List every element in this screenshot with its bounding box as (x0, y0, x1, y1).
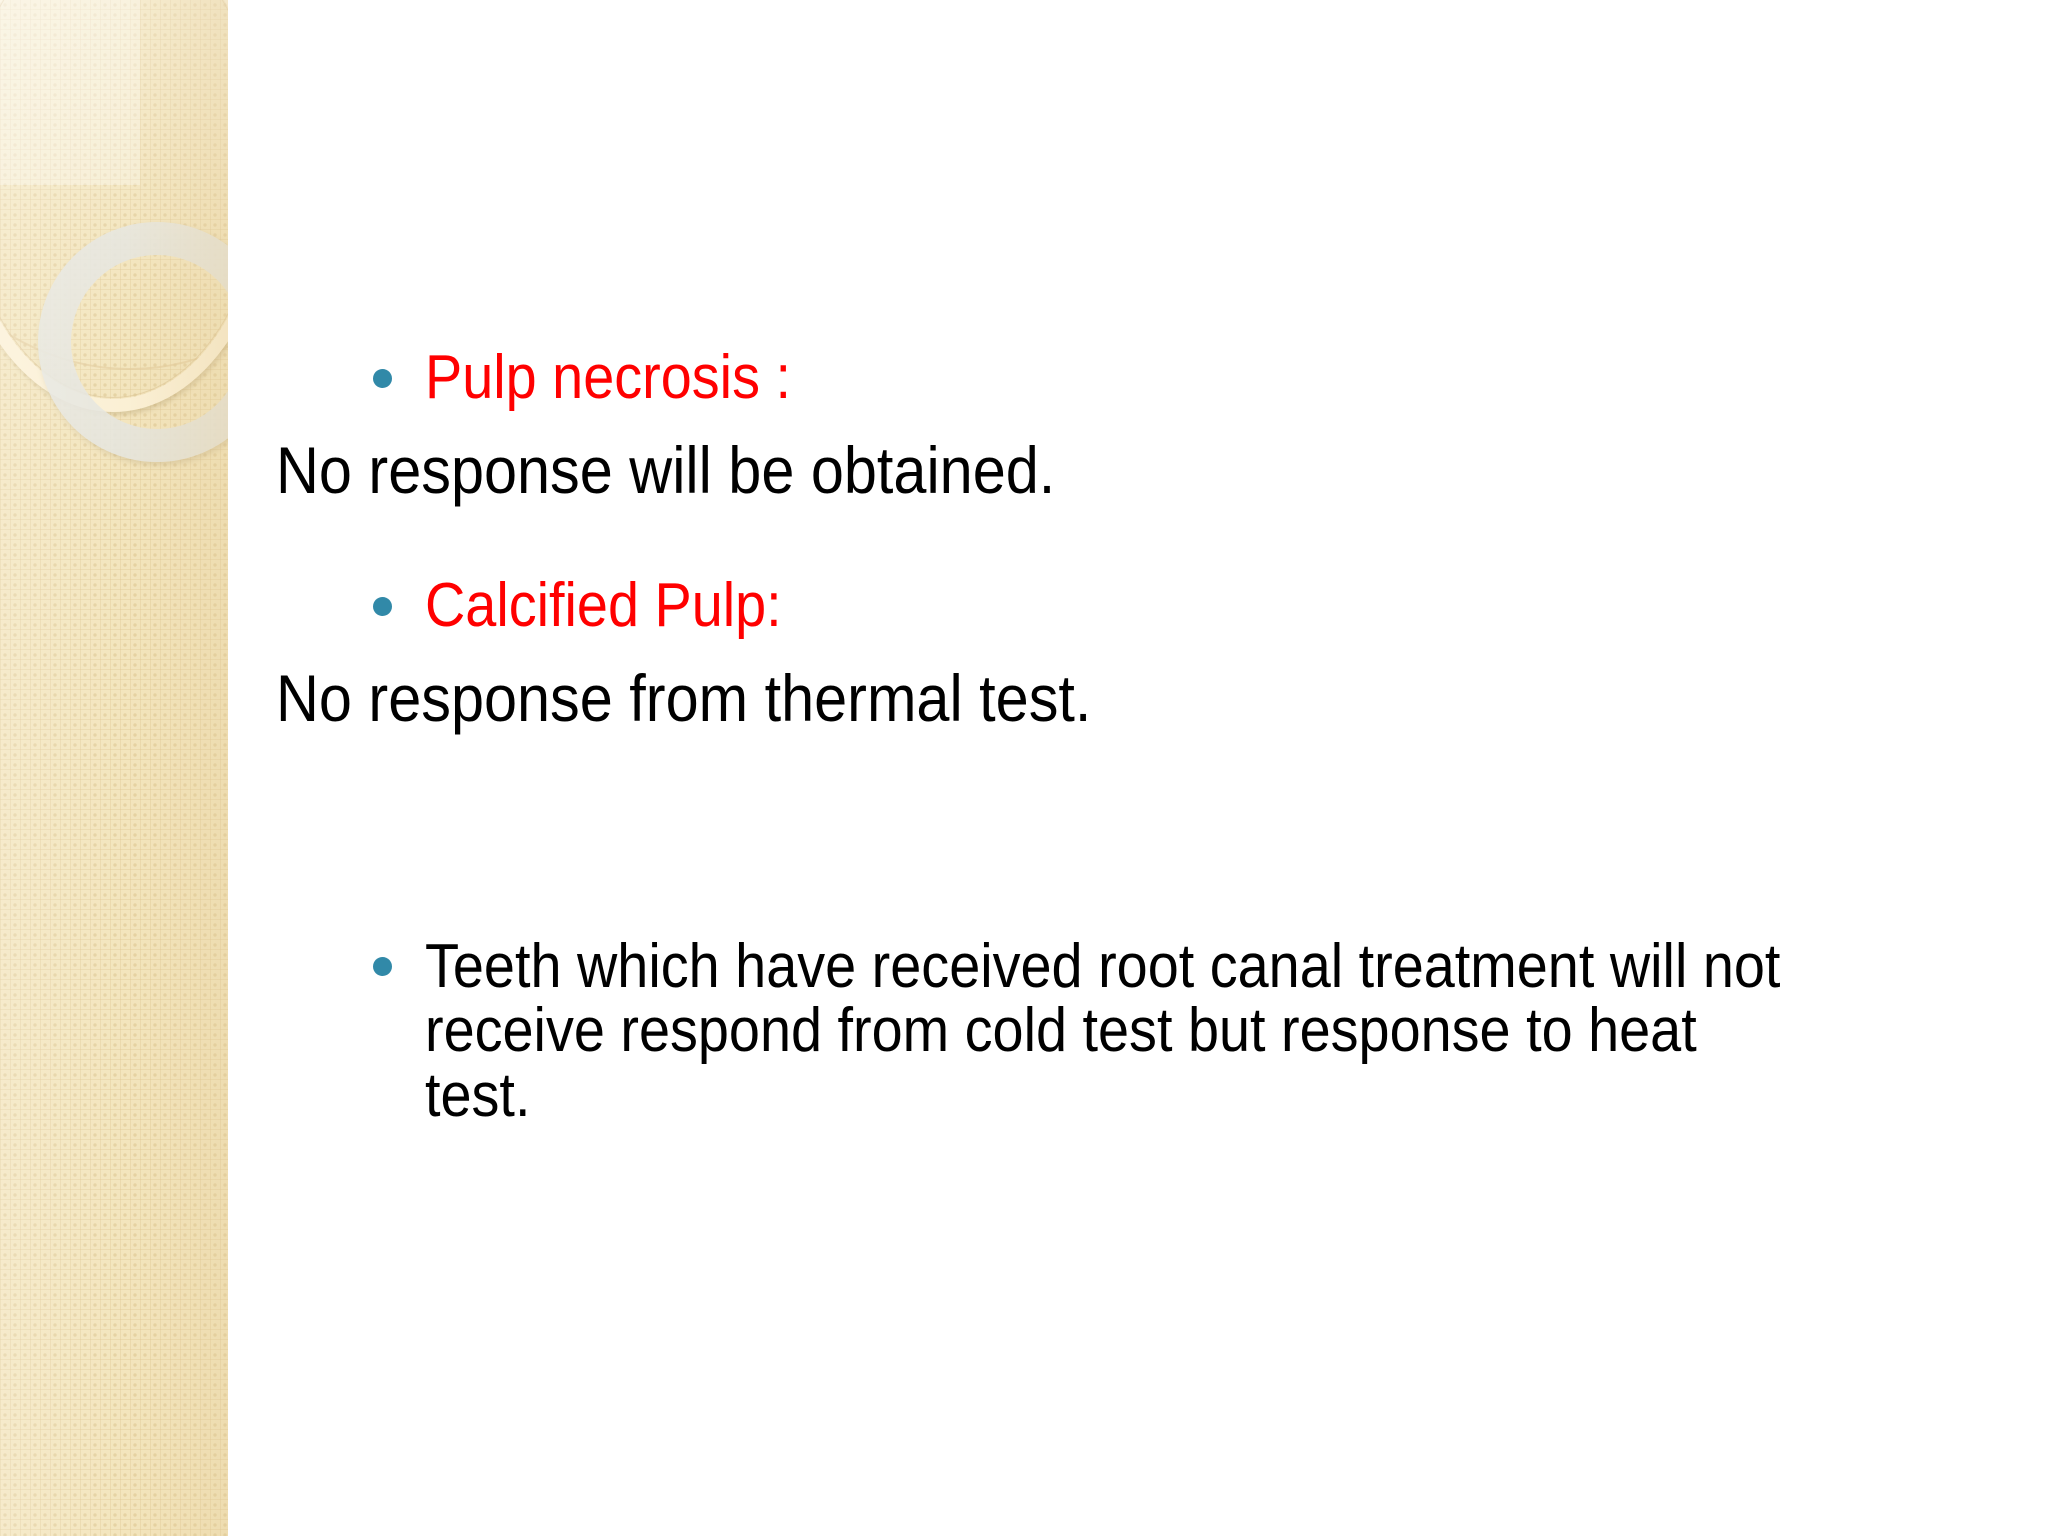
bullet-dot-icon (373, 597, 392, 616)
bullet-label-calcified-pulp: Calcified Pulp: (425, 575, 782, 637)
slide-content-area: Pulp necrosis : No response will be obta… (228, 0, 2048, 1536)
text-line-no-response-thermal: No response from thermal test. (276, 660, 1091, 736)
decorative-sidebar (0, 0, 228, 1536)
bullet-label-pulp-necrosis: Pulp necrosis : (425, 347, 791, 409)
bullet-item-calcified-pulp: Calcified Pulp: (373, 575, 821, 637)
bullet-item-teeth-root-canal: Teeth which have received root canal tre… (373, 935, 1965, 1128)
text-line-no-response-obtained: No response will be obtained. (276, 432, 1055, 508)
bullet-item-pulp-necrosis: Pulp necrosis : (373, 347, 832, 409)
sidebar-gradient-wash (0, 0, 228, 1536)
bullet-dot-icon (373, 957, 392, 976)
bullet-dot-icon (373, 369, 392, 388)
slide-canvas: Pulp necrosis : No response will be obta… (0, 0, 2048, 1536)
bullet-label-teeth-root-canal: Teeth which have received root canal tre… (425, 935, 1811, 1128)
